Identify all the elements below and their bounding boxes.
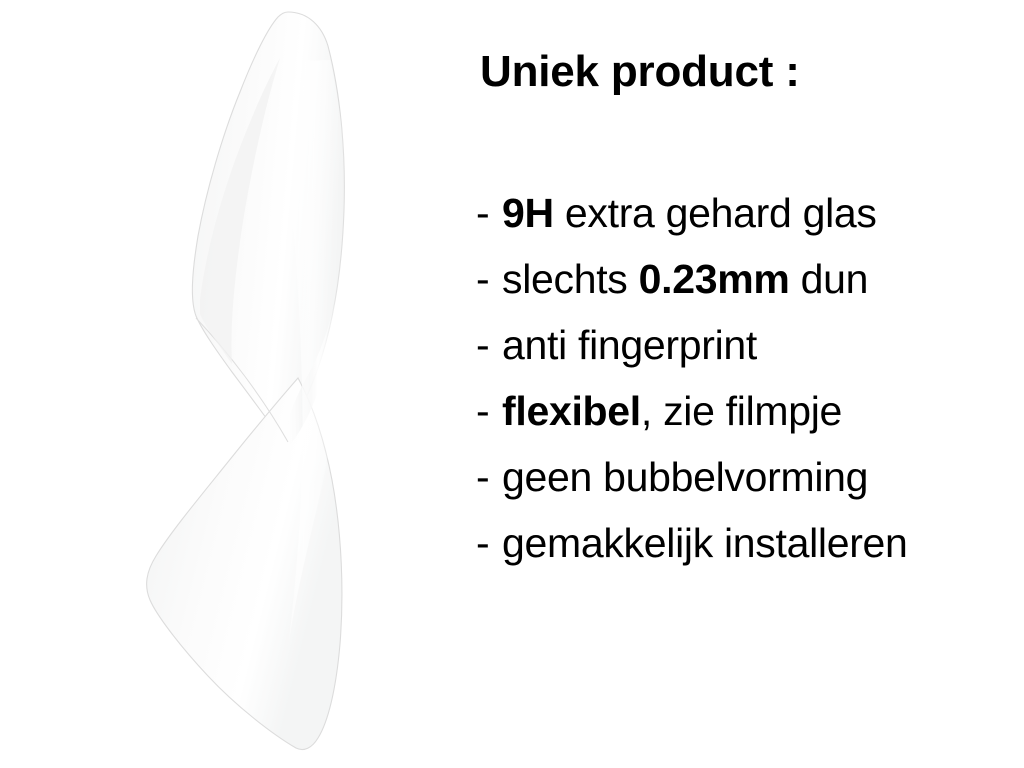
bullet-dash-icon: -	[476, 510, 502, 576]
feature-highlight: flexibel	[502, 388, 641, 434]
list-item: -9H extra gehard glas	[476, 180, 908, 246]
feature-text: gemakkelijk installeren	[502, 520, 908, 566]
product-promo-slide: Uniek product : -9H extra gehard glas -s…	[0, 0, 1024, 768]
list-item: -geen bubbelvorming	[476, 444, 908, 510]
bullet-dash-icon: -	[476, 246, 502, 312]
page-title: Uniek product :	[480, 48, 800, 96]
feature-text: extra gehard glas	[554, 190, 877, 236]
feature-text: geen bubbelvorming	[502, 454, 868, 500]
bullet-dash-icon: -	[476, 180, 502, 246]
list-item: -gemakkelijk installeren	[476, 510, 908, 576]
product-spec-panel: Uniek product : -9H extra gehard glas -s…	[476, 0, 1024, 768]
list-item: -flexibel, zie filmpje	[476, 378, 908, 444]
list-item: -slechts 0.23mm dun	[476, 246, 908, 312]
feature-highlight: 9H	[502, 190, 554, 236]
bullet-dash-icon: -	[476, 312, 502, 378]
feature-text: dun	[790, 256, 869, 302]
feature-highlight: 0.23mm	[639, 256, 790, 302]
feature-text: , zie filmpje	[641, 388, 842, 434]
feature-text: slechts	[502, 256, 639, 302]
feature-text: anti fingerprint	[502, 322, 757, 368]
tempered-glass-illustration	[0, 0, 460, 768]
feature-list: -9H extra gehard glas -slechts 0.23mm du…	[476, 180, 908, 576]
list-item: -anti fingerprint	[476, 312, 908, 378]
bullet-dash-icon: -	[476, 444, 502, 510]
bullet-dash-icon: -	[476, 378, 502, 444]
